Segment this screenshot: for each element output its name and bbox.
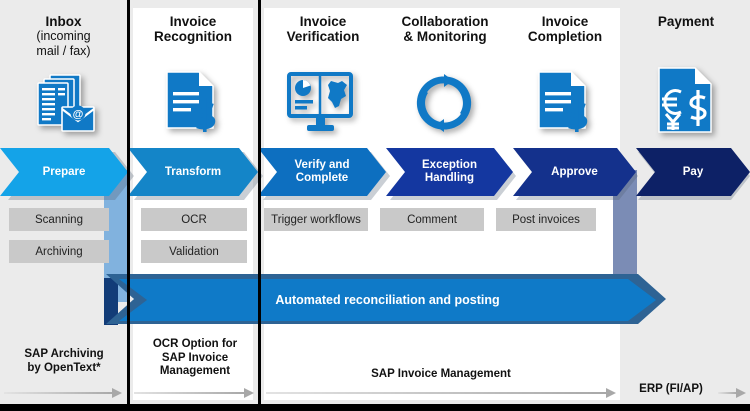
- refresh-cycle-icon: [415, 74, 473, 132]
- footer-arrow-line: [266, 392, 607, 394]
- stage-title-inbox-main: Inbox: [5, 14, 122, 29]
- divider-left: [127, 0, 130, 411]
- footer-arrow-ocr: [134, 388, 254, 398]
- tag-scanning[interactable]: Scanning: [9, 208, 109, 231]
- footer-arrow-head: [244, 388, 254, 398]
- process-step-label: Approve: [551, 166, 598, 179]
- stage-title-collaboration-monitoring: Collaboration & Monitoring: [384, 14, 506, 44]
- process-step-prepare[interactable]: Prepare: [0, 148, 128, 196]
- stage-title-invoice-verification: Invoice Verification: [266, 14, 380, 44]
- tag-post-invoices[interactable]: Post invoices: [496, 208, 596, 231]
- process-step-label: Exception Handling: [422, 159, 477, 185]
- stage-title-inbox-sub: (incoming mail / fax): [5, 29, 122, 59]
- tag-validation[interactable]: Validation: [141, 240, 247, 263]
- automation-band-label: Automated reconciliation and posting: [275, 293, 499, 307]
- panel-middle-stages: [264, 8, 620, 400]
- currency-document-icon: [655, 66, 717, 136]
- process-step-verify-and-complete[interactable]: Verify and Complete: [258, 148, 386, 196]
- footer-arrow-head: [112, 388, 122, 398]
- stage-title-invoice-recognition: Invoice Recognition: [136, 14, 250, 44]
- footer-arrow-line: [134, 392, 245, 394]
- documents-with-email-icon: @: [32, 73, 98, 135]
- footer-label-erp: ERP (FI/AP): [626, 383, 716, 397]
- svg-text:@: @: [73, 109, 84, 121]
- dashboard-monitor-icon: [286, 72, 356, 134]
- process-step-label: Pay: [683, 166, 703, 179]
- process-step-pay[interactable]: Pay: [636, 148, 750, 196]
- stage-title-inbox: Inbox (incoming mail / fax): [5, 14, 122, 59]
- footer-arrow-line: [718, 392, 737, 394]
- tag-ocr[interactable]: OCR: [141, 208, 247, 231]
- footer-arrow-line: [4, 392, 113, 394]
- footer-arrow-invoice-management: [266, 388, 616, 398]
- stage-title-invoice-completion: Invoice Completion: [510, 14, 620, 44]
- tag-comment[interactable]: Comment: [380, 208, 484, 231]
- process-step-label: Prepare: [43, 166, 86, 179]
- process-step-label: Transform: [165, 166, 221, 179]
- footer-arrow-archiving: [4, 388, 122, 398]
- footer-arrow-head: [606, 388, 616, 398]
- process-step-label: Verify and Complete: [295, 159, 350, 185]
- automation-band[interactable]: Automated reconciliation and posting: [119, 279, 656, 321]
- invoice-dollar-icon-completion: [535, 70, 597, 136]
- process-step-transform[interactable]: Transform: [128, 148, 258, 196]
- tag-archiving[interactable]: Archiving: [9, 240, 109, 263]
- invoice-dollar-icon-recognition: [163, 70, 225, 136]
- invoice-process-diagram: Inbox (incoming mail / fax) Invoice Reco…: [0, 0, 750, 411]
- process-step-exception-handling[interactable]: Exception Handling: [386, 148, 513, 196]
- footer-arrow-head: [736, 388, 746, 398]
- stage-title-payment: Payment: [630, 14, 742, 29]
- footer-label-sap-archiving: SAP Archiving by OpenText*: [4, 348, 124, 375]
- footer-label-sap-invoice-management: SAP Invoice Management: [265, 368, 617, 382]
- footer-arrow-erp: [718, 388, 746, 398]
- divider-right: [258, 0, 261, 411]
- footer-label-ocr-option: OCR Option for SAP Invoice Management: [135, 338, 255, 379]
- tag-trigger-workflows[interactable]: Trigger workflows: [264, 208, 368, 231]
